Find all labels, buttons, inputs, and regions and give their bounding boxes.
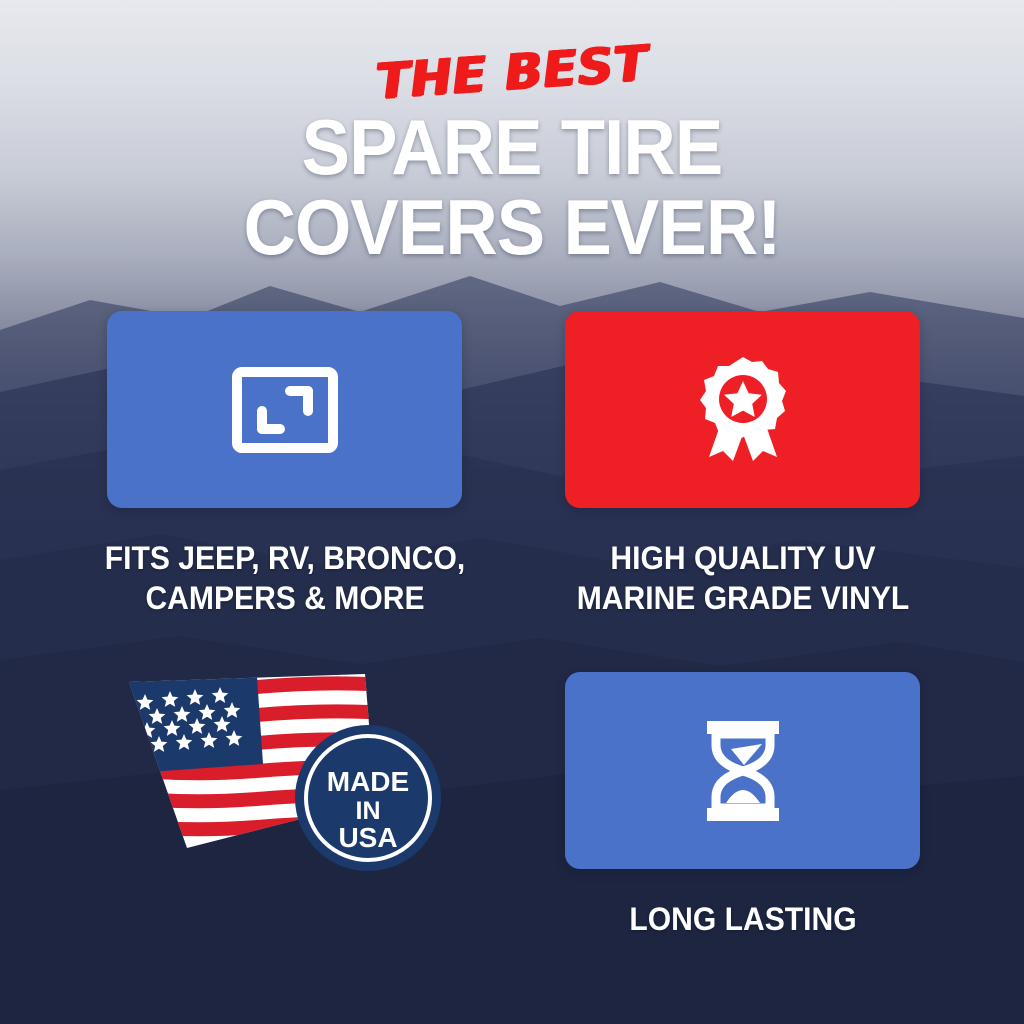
badge-text-in: IN <box>356 797 381 825</box>
feature-quality: HIGH QUALITY UV MARINE GRADE VINYL <box>565 311 943 619</box>
feature-card-quality <box>565 311 920 508</box>
fit-frame-icon <box>232 367 338 453</box>
feature-caption-quality: HIGH QUALITY UV MARINE GRADE VINYL <box>555 538 931 619</box>
feature-caption-long-lasting: LONG LASTING <box>555 899 931 939</box>
page-title-line-2: COVERS EVER! <box>36 188 988 266</box>
feature-card-long-lasting <box>565 672 920 869</box>
feature-caption-line-1: LONG LASTING <box>555 899 931 939</box>
award-ribbon-icon <box>693 355 793 465</box>
badge-text-usa: USA <box>338 822 397 853</box>
page-title-line-1: SPARE TIRE <box>36 108 988 186</box>
promo-poster: THE BEST SPARE TIRE COVERS EVER! FITS JE… <box>0 0 1024 1024</box>
feature-caption-fits: FITS JEEP, RV, BRONCO, CAMPERS & MORE <box>97 538 473 619</box>
feature-caption-line-1: HIGH QUALITY UV <box>555 538 931 578</box>
feature-caption-line-2: MARINE GRADE VINYL <box>555 578 931 618</box>
feature-caption-line-1: FITS JEEP, RV, BRONCO, <box>97 538 473 578</box>
feature-fits: FITS JEEP, RV, BRONCO, CAMPERS & MORE <box>107 311 485 619</box>
badge-text-made: MADE <box>327 766 409 797</box>
feature-made-in-usa: MADE IN USA <box>107 672 462 869</box>
feature-card-fits <box>107 311 462 508</box>
usa-flag-badge-group: MADE IN USA <box>107 672 462 869</box>
feature-caption-line-2: CAMPERS & MORE <box>97 578 473 618</box>
feature-long-lasting: LONG LASTING <box>565 672 943 939</box>
hourglass-icon <box>704 719 782 823</box>
made-in-usa-badge-icon: MADE IN USA <box>293 723 443 873</box>
